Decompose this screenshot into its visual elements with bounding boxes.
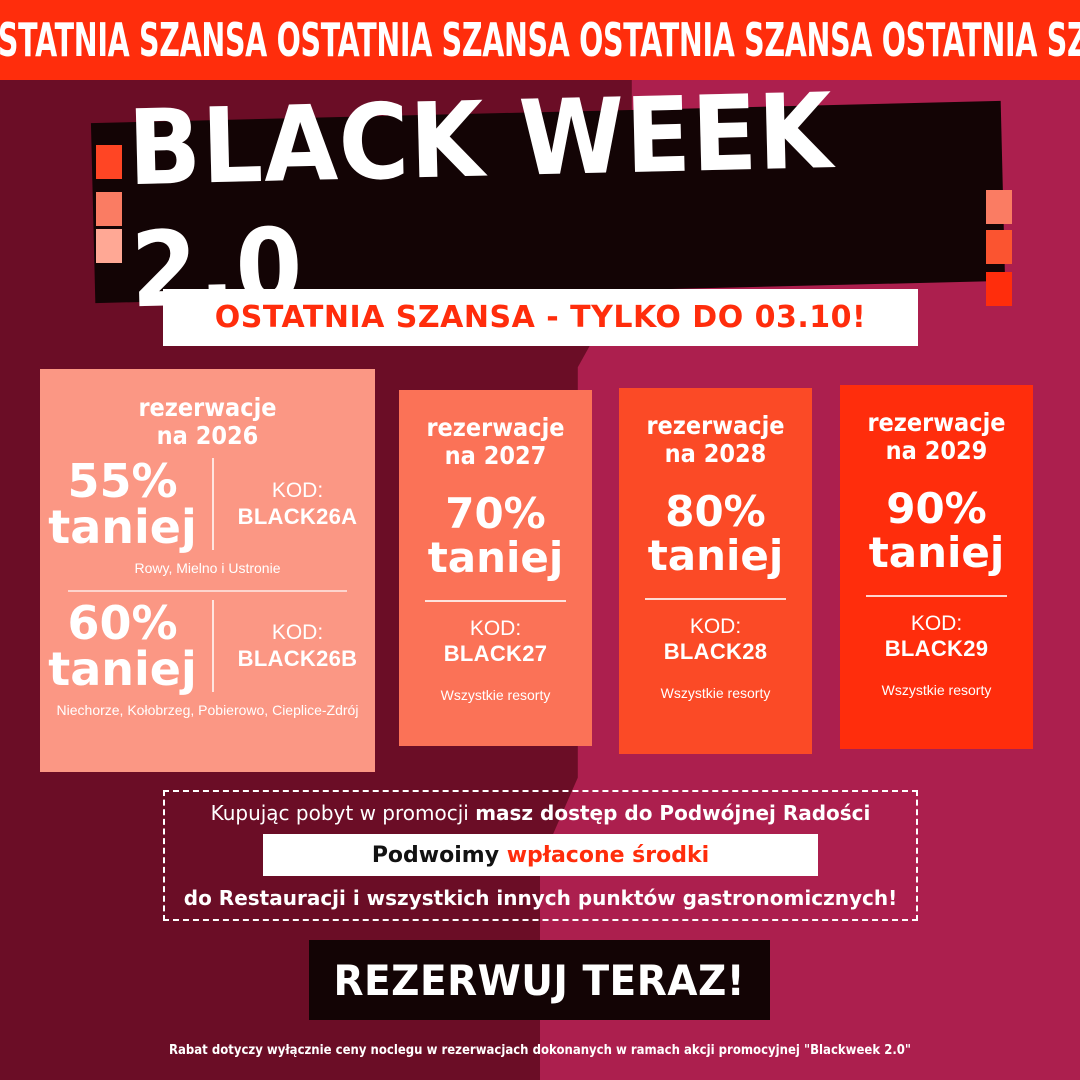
offer-locations: Wszystkie resorty — [840, 662, 1033, 698]
subtitle-bar: OSTATNIA SZANSA - TYLKO DO 03.10! — [163, 289, 918, 346]
kod-label: KOD: — [840, 597, 1033, 636]
promo-card-title: rezerwacje na 2029 — [850, 385, 1024, 465]
discount-suffix: taniej — [619, 534, 812, 578]
page-title: BLACK WEEK 2.0 — [127, 102, 968, 302]
bonus-line-3: do Restauracji i wszystkich innych punkt… — [184, 886, 897, 910]
discount-percent-block: 60% taniej — [48, 600, 198, 692]
footer-disclaimer: Rabat dotyczy wyłącznie ceny noclegu w r… — [54, 1043, 1026, 1058]
promo-offer-row: 55% taniej KOD: BLACK26A — [40, 450, 375, 550]
discount-suffix: taniej — [840, 531, 1033, 575]
bonus-offer-box: Kupując pobyt w promocji masz dostęp do … — [163, 790, 918, 921]
bonus-line-1-bold: masz dostęp do Podwójnej Radości — [475, 801, 870, 825]
promo-card-2029[interactable]: rezerwacje na 2029 90% taniej KOD: BLACK… — [840, 385, 1033, 749]
bonus-bar-red-text: wpłacone środki — [507, 843, 709, 868]
promo-offer-row: 60% taniej KOD: BLACK26B — [40, 592, 375, 692]
promo-code-value[interactable]: BLACK27 — [399, 641, 592, 667]
bonus-bar-text: Podwoimy wpłacone środki — [372, 843, 709, 868]
marquee-text: OSTATNIA SZANSA OSTATNIA SZANSA OSTATNIA… — [0, 13, 1080, 67]
headline-panel: BLACK WEEK 2.0 — [91, 101, 1005, 303]
decorative-square-left-3 — [96, 229, 122, 263]
discount-percent-block: 55% taniej — [48, 458, 198, 550]
discount-suffix: taniej — [399, 536, 592, 580]
promo-card-2027[interactable]: rezerwacje na 2027 70% taniej KOD: BLACK… — [399, 390, 592, 746]
vertical-divider — [212, 458, 214, 550]
subtitle-text: OSTATNIA SZANSA - TYLKO DO 03.10! — [215, 300, 866, 335]
discount-percent-block: 90% taniej — [840, 465, 1033, 575]
offer-locations: Wszystkie resorty — [619, 665, 812, 701]
bonus-line-1: Kupując pobyt w promocji masz dostęp do … — [211, 801, 871, 825]
discount-percent: 70% — [399, 492, 592, 536]
discount-percent: 80% — [619, 490, 812, 534]
bonus-line-1-regular: Kupując pobyt w promocji — [211, 801, 476, 825]
decorative-square-left-2 — [96, 192, 122, 226]
promo-code-value[interactable]: BLACK26A — [228, 504, 368, 530]
promo-code-block: KOD: BLACK26A — [228, 478, 368, 530]
offer-locations: Wszystkie resorty — [399, 667, 592, 703]
promo-code-value[interactable]: BLACK28 — [619, 639, 812, 665]
promo-card-title: rezerwacje na 2026 — [57, 369, 359, 450]
promo-code-value[interactable]: BLACK26B — [228, 646, 368, 672]
promo-code-value[interactable]: BLACK29 — [840, 636, 1033, 662]
vertical-divider — [212, 600, 214, 692]
discount-percent-block: 70% taniej — [399, 470, 592, 580]
kod-label: KOD: — [228, 620, 368, 646]
promo-card-2026[interactable]: rezerwacje na 2026 55% taniej KOD: BLACK… — [40, 369, 375, 772]
promo-card-title: rezerwacje na 2027 — [409, 390, 583, 470]
discount-percent: 60% — [48, 600, 198, 646]
discount-percent: 55% — [48, 458, 198, 504]
promo-code-block: KOD: BLACK26B — [228, 620, 368, 672]
decorative-square-right-2 — [986, 230, 1012, 264]
discount-percent-block: 80% taniej — [619, 468, 812, 578]
kod-label: KOD: — [619, 600, 812, 639]
discount-suffix: taniej — [48, 646, 198, 692]
bonus-highlight-bar: Podwoimy wpłacone środki — [263, 834, 818, 876]
decorative-square-left-1 — [96, 145, 122, 179]
reserve-now-button[interactable]: REZERWUJ TERAZ! — [309, 940, 770, 1020]
discount-suffix: taniej — [48, 504, 198, 550]
decorative-square-right-1 — [986, 190, 1012, 224]
kod-label: KOD: — [228, 478, 368, 504]
promo-card-title: rezerwacje na 2028 — [629, 388, 803, 468]
kod-label: KOD: — [399, 602, 592, 641]
decorative-square-right-3 — [986, 272, 1012, 306]
bonus-bar-black-text: Podwoimy — [372, 843, 507, 868]
promo-card-2028[interactable]: rezerwacje na 2028 80% taniej KOD: BLACK… — [619, 388, 812, 754]
discount-percent: 90% — [840, 487, 1033, 531]
reserve-now-label: REZERWUJ TERAZ! — [334, 956, 746, 1005]
